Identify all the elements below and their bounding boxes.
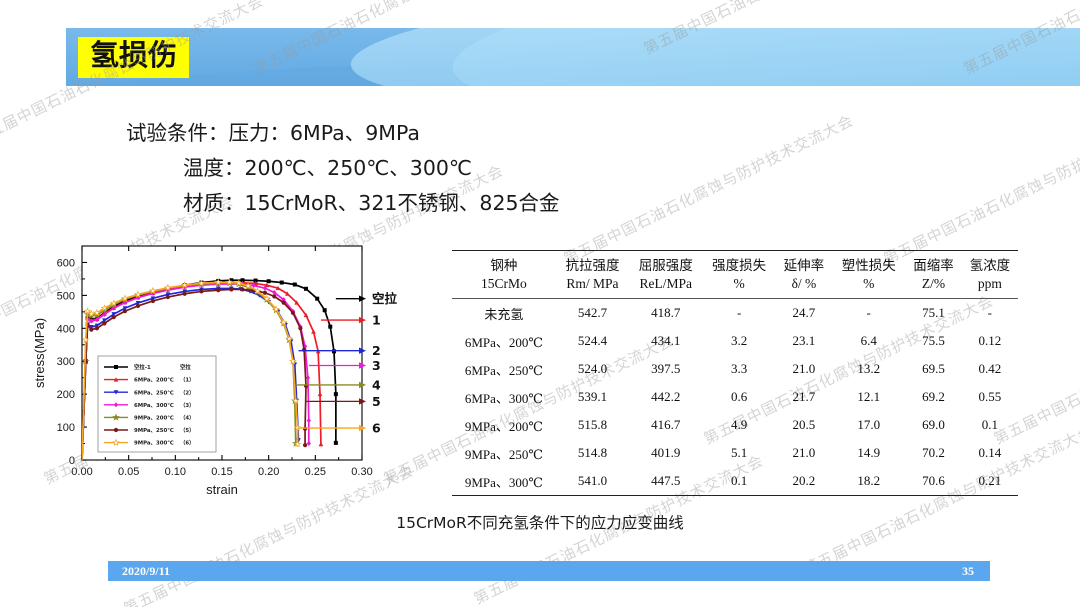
table-cell: 0.12 — [962, 327, 1018, 355]
table-col-header-1: 抗拉强度 — [556, 251, 629, 276]
table-cell: 442.2 — [629, 383, 702, 411]
table-cell: 447.5 — [629, 467, 702, 496]
table-row: 9MPa、200℃515.8416.74.920.517.069.00.1 — [452, 411, 1018, 439]
table-cell: 70.2 — [905, 439, 961, 467]
experiment-conditions: 试验条件：压力：6MPa、9MPa 温度：200℃、250℃、300℃ 材质：1… — [126, 116, 560, 221]
data-marker — [136, 304, 140, 308]
page-title: 氢损伤 — [78, 37, 189, 78]
table-cell: 4.9 — [702, 411, 775, 439]
figure-caption: 15CrMoR不同充氢条件下的应力应变曲线 — [0, 511, 1080, 533]
stress-strain-chart: 0.000.050.100.150.200.250.30010020030040… — [26, 234, 430, 506]
table-row-label: 未充氢 — [452, 299, 556, 328]
y-axis-label: stress(MPa) — [32, 318, 47, 388]
watermark-text: 第五届中国石油石化腐蚀与防护技术交流大会 — [880, 110, 1080, 269]
condition-value-1: 温度：200℃、250℃、300℃ — [183, 156, 472, 180]
data-marker — [89, 328, 93, 332]
table-cell: 20.2 — [776, 467, 832, 496]
table-body: 未充氢542.7418.7-24.7-75.1-6MPa、200℃524.443… — [452, 299, 1018, 496]
table-cell: - — [962, 299, 1018, 328]
data-marker — [240, 287, 244, 291]
table-col-unit-6: Z/% — [905, 275, 961, 299]
table-cell: 0.14 — [962, 439, 1018, 467]
table-cell: 21.0 — [776, 355, 832, 383]
table-col-header-2: 屈服强度 — [629, 251, 702, 276]
x-axis-label: strain — [206, 482, 238, 497]
y-tick-label: 300 — [57, 356, 75, 368]
data-marker — [272, 294, 276, 298]
table-cell: 12.1 — [832, 383, 905, 411]
data-marker — [123, 309, 127, 313]
table-cell: 6.4 — [832, 327, 905, 355]
table-cell: 5.1 — [702, 439, 775, 467]
data-marker — [304, 287, 308, 291]
legend-suffix-4: （4） — [180, 414, 195, 422]
table-row: 9MPa、300℃541.0447.50.120.218.270.60.21 — [452, 467, 1018, 496]
x-tick-label: 0.30 — [351, 466, 372, 478]
chart-canvas: 0.000.050.100.150.200.250.30010020030040… — [26, 234, 430, 506]
condition-line-material: 材质：15CrMoR、321不锈钢、825合金 — [126, 186, 560, 221]
legend-suffix-2: （2） — [180, 388, 195, 396]
data-marker — [102, 321, 106, 325]
data-marker — [293, 283, 297, 287]
table-cell: 416.7 — [629, 411, 702, 439]
data-marker — [114, 365, 118, 369]
y-tick-label: 500 — [57, 290, 75, 302]
table-col-header-5: 塑性损失 — [832, 251, 905, 276]
annotation-label: 5 — [372, 394, 381, 409]
table-row: 6MPa、250℃524.0397.53.321.013.269.50.42 — [452, 355, 1018, 383]
table-cell: 0.55 — [962, 383, 1018, 411]
condition-value-0: 压力：6MPa、9MPa — [229, 121, 420, 145]
legend-label-2: 6MPa、250℃ — [134, 389, 174, 396]
table-col-header-7: 氢浓度 — [962, 251, 1018, 276]
data-marker — [303, 443, 307, 447]
table-col-unit-5: % — [832, 275, 905, 299]
watermark-text: 第五届中国石油石化腐蚀与防护技术交流大会 — [560, 110, 857, 269]
table-cell: 75.1 — [905, 299, 961, 328]
table-cell: 13.2 — [832, 355, 905, 383]
table-cell: 21.7 — [776, 383, 832, 411]
legend-label-1: 6MPa、200℃ — [134, 377, 174, 384]
data-marker — [112, 315, 116, 319]
table-row-label: 6MPa、300℃ — [452, 383, 556, 411]
legend-label-0: 空拉-1 — [134, 363, 151, 371]
table-cell: 0.1 — [702, 467, 775, 496]
x-tick-label: 0.15 — [211, 466, 232, 478]
y-tick-label: 600 — [57, 257, 75, 269]
banner-wave-highlight — [347, 28, 1080, 86]
table-cell: 434.1 — [629, 327, 702, 355]
table-col-header-4: 延伸率 — [776, 251, 832, 276]
table-cell: 541.0 — [556, 467, 629, 496]
table-cell: 401.9 — [629, 439, 702, 467]
table-col-header-3: 强度损失 — [702, 251, 775, 276]
x-tick-label: 0.20 — [258, 466, 279, 478]
legend-suffix-3: （3） — [180, 401, 195, 409]
data-marker — [298, 326, 302, 330]
table-cell: 69.5 — [905, 355, 961, 383]
table-col-unit-3: % — [702, 275, 775, 299]
condition-line-pressure: 试验条件：压力：6MPa、9MPa — [126, 116, 560, 151]
table-col-unit-0: 15CrMo — [452, 275, 556, 299]
data-marker — [229, 287, 233, 291]
table-cell: 69.2 — [905, 383, 961, 411]
table-cell: 20.5 — [776, 411, 832, 439]
table-col-header-6: 面缩率 — [905, 251, 961, 276]
data-marker — [334, 441, 338, 445]
table-cell: 24.7 — [776, 299, 832, 328]
table-head: 钢种抗拉强度屈服强度强度损失延伸率塑性损失面缩率氢浓度 15CrMoRm/ MP… — [452, 251, 1018, 299]
table-row-label: 6MPa、250℃ — [452, 355, 556, 383]
data-marker — [199, 289, 203, 293]
x-tick-label: 0.00 — [71, 466, 92, 478]
table-cell: 75.5 — [905, 327, 961, 355]
table-cell: 524.0 — [556, 355, 629, 383]
data-marker — [332, 349, 336, 353]
legend-label-6: 9MPa、300℃ — [134, 440, 174, 447]
table-row: 9MPa、250℃514.8401.95.121.014.970.20.14 — [452, 439, 1018, 467]
data-marker — [216, 288, 220, 292]
table-col-unit-7: ppm — [962, 275, 1018, 299]
annotation-label: 2 — [372, 343, 381, 358]
table-cell: 14.9 — [832, 439, 905, 467]
x-tick-label: 0.05 — [118, 466, 139, 478]
condition-line-temperature: 温度：200℃、250℃、300℃ — [126, 151, 560, 186]
data-marker — [151, 299, 155, 303]
table-cell: 514.8 — [556, 439, 629, 467]
results-table: 钢种抗拉强度屈服强度强度损失延伸率塑性损失面缩率氢浓度 15CrMoRm/ MP… — [452, 250, 1018, 496]
page-title-text: 氢损伤 — [90, 38, 177, 72]
header-banner — [66, 28, 1080, 86]
table-cell: 0.42 — [962, 355, 1018, 383]
table-cell: 0.21 — [962, 467, 1018, 496]
data-marker — [183, 292, 187, 296]
table-row-label: 9MPa、300℃ — [452, 467, 556, 496]
data-marker — [328, 325, 332, 329]
data-marker — [114, 428, 118, 432]
y-tick-label: 200 — [57, 389, 75, 401]
table-cell: 418.7 — [629, 299, 702, 328]
data-marker — [282, 301, 286, 305]
table-col-unit-1: Rm/ MPa — [556, 275, 629, 299]
table-cell: 524.4 — [556, 327, 629, 355]
table-row-label: 9MPa、200℃ — [452, 411, 556, 439]
legend-suffix-0: 空拉 — [180, 363, 191, 371]
data-marker — [323, 308, 327, 312]
data-marker — [315, 297, 319, 301]
data-marker — [303, 427, 307, 431]
table-cell: 542.7 — [556, 299, 629, 328]
slide-root: 氢损伤 试验条件：压力：6MPa、9MPa 温度：200℃、250℃、300℃ … — [0, 0, 1080, 607]
legend-label-4: 9MPa、200℃ — [134, 415, 174, 422]
y-tick-label: 400 — [57, 323, 75, 335]
table-row-label: 6MPa、200℃ — [452, 327, 556, 355]
table-cell: 18.2 — [832, 467, 905, 496]
table-row: 6MPa、300℃539.1442.20.621.712.169.20.55 — [452, 383, 1018, 411]
legend-label-3: 6MPa、300℃ — [134, 402, 174, 409]
data-marker — [280, 281, 284, 285]
table-cell: 539.1 — [556, 383, 629, 411]
condition-label-0: 试验条件： — [126, 121, 229, 145]
legend-suffix-5: （5） — [180, 426, 195, 434]
table-cell: 17.0 — [832, 411, 905, 439]
data-marker — [95, 326, 99, 330]
table-cell: 515.8 — [556, 411, 629, 439]
table-cell: 69.0 — [905, 411, 961, 439]
table-cell: 397.5 — [629, 355, 702, 383]
annotation-label: 4 — [372, 377, 381, 392]
data-marker — [267, 279, 271, 283]
table-cell: 23.1 — [776, 327, 832, 355]
table-col-header-0: 钢种 — [452, 251, 556, 276]
table-cell: 70.6 — [905, 467, 961, 496]
footer-page-number: 35 — [962, 564, 974, 579]
legend-suffix-1: （1） — [180, 376, 195, 384]
legend-suffix-6: （6） — [180, 439, 195, 447]
x-tick-label: 0.25 — [305, 466, 326, 478]
table-cell: 0.1 — [962, 411, 1018, 439]
table-cell: 3.2 — [702, 327, 775, 355]
x-tick-label: 0.10 — [165, 466, 186, 478]
table-cell: - — [832, 299, 905, 328]
y-tick-label: 100 — [57, 422, 75, 434]
table-cell: - — [702, 299, 775, 328]
legend-label-5: 9MPa、250℃ — [134, 427, 174, 434]
annotation-label: 1 — [372, 313, 381, 328]
data-marker — [291, 311, 295, 315]
annotation-label: 3 — [372, 358, 381, 373]
annotation-label: 6 — [372, 421, 381, 436]
y-tick-label: 0 — [69, 455, 75, 467]
table-col-unit-2: ReL/MPa — [629, 275, 702, 299]
results-table-wrapper: 钢种抗拉强度屈服强度强度损失延伸率塑性损失面缩率氢浓度 15CrMoRm/ MP… — [452, 250, 1018, 496]
table-cell: 0.6 — [702, 383, 775, 411]
annotation-label: 空拉 — [372, 291, 398, 306]
data-marker — [263, 291, 267, 295]
footer-date: 2020/9/11 — [122, 564, 170, 579]
table-header-row-1: 钢种抗拉强度屈服强度强度损失延伸率塑性损失面缩率氢浓度 — [452, 251, 1018, 276]
table-cell: 3.3 — [702, 355, 775, 383]
table-row: 未充氢542.7418.7-24.7-75.1- — [452, 299, 1018, 328]
data-marker — [334, 392, 338, 396]
table-col-unit-4: δ/ % — [776, 275, 832, 299]
table-cell: 21.0 — [776, 439, 832, 467]
data-marker — [166, 295, 170, 299]
table-row: 6MPa、200℃524.4434.13.223.16.475.50.12 — [452, 327, 1018, 355]
condition-value-2: 材质：15CrMoR、321不锈钢、825合金 — [183, 191, 560, 215]
footer-bar: 2020/9/11 35 — [108, 561, 990, 581]
table-header-row-2: 15CrMoRm/ MPaReL/MPa%δ/ %%Z/%ppm — [452, 275, 1018, 299]
table-row-label: 9MPa、250℃ — [452, 439, 556, 467]
